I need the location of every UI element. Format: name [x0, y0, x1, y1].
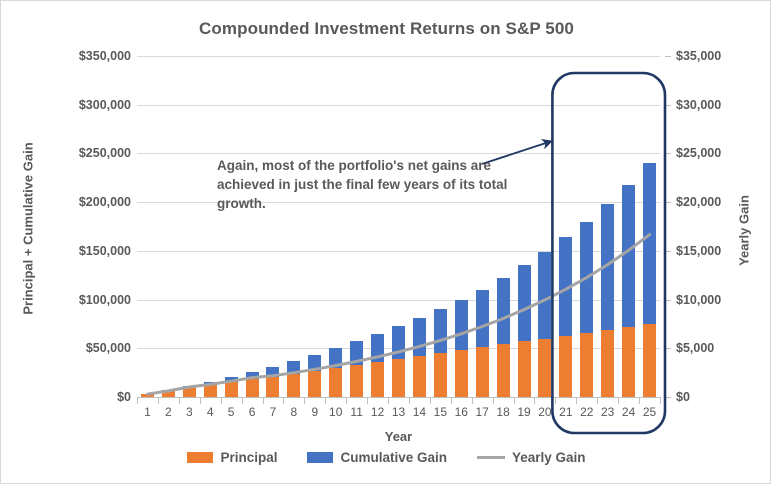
bar-segment-principal[interactable]	[476, 347, 489, 397]
bar-segment-cumulative-gain[interactable]	[371, 334, 384, 362]
bar-segment-principal[interactable]	[246, 379, 259, 397]
y-axis-right-tick-label: $20,000	[676, 195, 721, 209]
x-axis-tick	[451, 397, 452, 404]
bar-segment-principal[interactable]	[308, 371, 321, 397]
bar-segment-principal[interactable]	[580, 333, 593, 397]
bar-column[interactable]	[434, 309, 447, 397]
y-axis-right-tick-label: $5,000	[676, 341, 714, 355]
bar-segment-cumulative-gain[interactable]	[266, 367, 279, 377]
y-axis-left-tick-label: $200,000	[11, 195, 131, 209]
x-axis-tick	[430, 397, 431, 404]
bar-segment-principal[interactable]	[183, 388, 196, 397]
y-axis-right-tick	[665, 56, 671, 57]
x-axis-tick-label: 4	[207, 405, 214, 419]
bar-segment-cumulative-gain[interactable]	[392, 326, 405, 359]
y-axis-right-tick	[665, 251, 671, 252]
y-axis-left-tick-label: $300,000	[11, 98, 131, 112]
bar-segment-cumulative-gain[interactable]	[643, 163, 656, 324]
y-axis-right-tick	[665, 105, 671, 106]
x-axis-tick	[346, 397, 347, 404]
x-axis-tick-label: 15	[434, 405, 447, 419]
chart-title: Compounded Investment Returns on S&P 500	[1, 19, 771, 39]
x-axis-tick	[618, 397, 619, 404]
bar-segment-principal[interactable]	[455, 350, 468, 397]
bar-segment-cumulative-gain[interactable]	[308, 355, 321, 371]
x-axis-tick	[472, 397, 473, 404]
bar-column[interactable]	[204, 382, 217, 397]
x-axis-tick-label: 20	[538, 405, 551, 419]
y-axis-right-tick	[665, 397, 671, 398]
bar-segment-cumulative-gain[interactable]	[497, 278, 510, 344]
bar-segment-cumulative-gain[interactable]	[350, 341, 363, 364]
x-axis-tick	[555, 397, 556, 404]
x-axis-tick	[576, 397, 577, 404]
bar-column[interactable]	[350, 341, 363, 397]
x-axis-tick	[639, 397, 640, 404]
bar-column[interactable]	[266, 367, 279, 397]
y-axis-right-tick-label: $30,000	[676, 98, 721, 112]
x-axis-tick-label: 14	[413, 405, 426, 419]
x-axis-tick-label: 23	[601, 405, 614, 419]
x-axis-tick-label: 3	[186, 405, 193, 419]
bar-segment-cumulative-gain[interactable]	[622, 185, 635, 327]
x-axis-tick-label: 12	[371, 405, 384, 419]
bar-segment-principal[interactable]	[266, 377, 279, 397]
x-axis-tick-label: 10	[329, 405, 342, 419]
x-axis-tick-label: 18	[496, 405, 509, 419]
bar-segment-principal[interactable]	[434, 353, 447, 397]
x-axis-tick	[409, 397, 410, 404]
bar-segment-cumulative-gain[interactable]	[413, 318, 426, 356]
y-axis-right-tick	[665, 300, 671, 301]
gridline	[137, 56, 660, 57]
bar-segment-cumulative-gain[interactable]	[518, 265, 531, 341]
x-axis-tick-label: 6	[249, 405, 256, 419]
bar-segment-principal[interactable]	[601, 330, 614, 397]
y-axis-right-tick-label: $10,000	[676, 293, 721, 307]
bar-column[interactable]	[476, 290, 489, 397]
bar-segment-principal[interactable]	[538, 339, 551, 397]
bar-column[interactable]	[308, 355, 321, 397]
x-axis-tick	[283, 397, 284, 404]
x-axis-tick-label: 11	[350, 405, 362, 419]
chart-container: Compounded Investment Returns on S&P 500…	[0, 0, 771, 484]
bar-column[interactable]	[538, 252, 551, 397]
x-axis-tick	[325, 397, 326, 404]
bar-segment-principal[interactable]	[622, 327, 635, 397]
bar-segment-cumulative-gain[interactable]	[559, 237, 572, 335]
bar-segment-principal[interactable]	[225, 382, 238, 397]
legend-line-swatch	[477, 456, 505, 459]
legend-item[interactable]: Principal	[187, 450, 277, 465]
x-axis-tick	[388, 397, 389, 404]
bar-segment-cumulative-gain[interactable]	[476, 290, 489, 347]
y-axis-left-tick-label: $150,000	[11, 244, 131, 258]
bar-column[interactable]	[455, 300, 468, 397]
x-axis-tick	[263, 397, 264, 404]
bar-segment-cumulative-gain[interactable]	[329, 348, 342, 367]
x-axis-tick	[242, 397, 243, 404]
x-axis-tick	[221, 397, 222, 404]
bar-column[interactable]	[287, 361, 300, 397]
bar-segment-cumulative-gain[interactable]	[434, 309, 447, 353]
bar-column[interactable]	[559, 237, 572, 397]
bar-column[interactable]	[497, 278, 510, 397]
legend-label: Principal	[220, 450, 277, 465]
y-axis-right-tick-label: $0	[676, 390, 690, 404]
x-axis-tick	[158, 397, 159, 404]
bar-column[interactable]	[518, 265, 531, 397]
bar-column[interactable]	[601, 204, 614, 397]
x-axis-ticks	[137, 397, 660, 405]
bar-segment-principal[interactable]	[371, 362, 384, 397]
x-axis-tick	[304, 397, 305, 404]
bar-column[interactable]	[392, 326, 405, 397]
legend-item[interactable]: Cumulative Gain	[307, 450, 447, 465]
bar-column[interactable]	[246, 372, 259, 397]
y-axis-left-tick-label: $350,000	[11, 49, 131, 63]
x-axis-tick	[137, 397, 138, 404]
bar-segment-cumulative-gain[interactable]	[455, 300, 468, 351]
x-axis-tick-label: 21	[559, 405, 572, 419]
y-axis-right-tick	[665, 348, 671, 349]
bar-segment-principal[interactable]	[497, 344, 510, 397]
bar-segment-cumulative-gain[interactable]	[601, 204, 614, 330]
x-axis-tick	[493, 397, 494, 404]
y-axis-right-tick-label: $15,000	[676, 244, 721, 258]
y-axis-right-tick	[665, 202, 671, 203]
chart-annotation-text: Again, most of the portfolio's net gains…	[217, 156, 537, 213]
y-axis-right-tick-label: $35,000	[676, 49, 721, 63]
x-axis-tick-label: 16	[455, 405, 468, 419]
x-axis-tick-label: 17	[475, 405, 488, 419]
bar-segment-principal[interactable]	[350, 365, 363, 397]
x-axis-tick-label: 25	[643, 405, 656, 419]
x-axis-tick-label: 2	[165, 405, 172, 419]
plot-area	[137, 56, 660, 397]
bar-column[interactable]	[162, 390, 175, 397]
bar-segment-cumulative-gain[interactable]	[580, 222, 593, 333]
bar-column[interactable]	[622, 185, 635, 397]
x-axis-tick	[660, 397, 661, 404]
x-axis-tick	[514, 397, 515, 404]
x-axis-tick	[200, 397, 201, 404]
bar-segment-principal[interactable]	[392, 359, 405, 397]
legend-color-swatch	[187, 452, 213, 463]
y-axis-right-tick-label: $25,000	[676, 146, 721, 160]
x-axis-title: Year	[137, 429, 660, 444]
bar-segment-cumulative-gain[interactable]	[246, 372, 259, 379]
bar-column[interactable]	[580, 222, 593, 397]
x-axis-tick-label: 19	[517, 405, 530, 419]
x-axis-tick-label: 8	[291, 405, 298, 419]
legend-item[interactable]: Yearly Gain	[477, 450, 586, 465]
x-axis-tick	[597, 397, 598, 404]
y-axis-left-tick-label: $0	[11, 390, 131, 404]
legend-color-swatch	[307, 452, 333, 463]
gridline	[137, 105, 660, 106]
bar-column[interactable]	[371, 334, 384, 397]
x-axis-tick-label: 13	[392, 405, 405, 419]
x-axis-tick	[367, 397, 368, 404]
bar-column[interactable]	[643, 163, 656, 397]
x-axis-tick	[534, 397, 535, 404]
y-axis-left-labels: $0$50,000$100,000$150,000$200,000$250,00…	[9, 56, 131, 397]
y-axis-left-tick-label: $100,000	[11, 293, 131, 307]
bar-segment-cumulative-gain[interactable]	[538, 252, 551, 339]
gridline	[137, 153, 660, 154]
bar-column[interactable]	[183, 386, 196, 397]
x-axis-tick-label: 24	[622, 405, 635, 419]
x-axis-tick-label: 22	[580, 405, 593, 419]
chart-legend: PrincipalCumulative GainYearly Gain	[1, 450, 771, 465]
bar-segment-principal[interactable]	[559, 336, 572, 397]
y-axis-right-labels: $0$5,000$10,000$15,000$20,000$25,000$30,…	[665, 56, 745, 397]
bar-segment-principal[interactable]	[518, 341, 531, 397]
legend-label: Yearly Gain	[512, 450, 586, 465]
x-axis-tick-label: 1	[144, 405, 151, 419]
bar-segment-principal[interactable]	[204, 385, 217, 397]
bar-segment-principal[interactable]	[329, 368, 342, 397]
x-axis-tick-label: 5	[228, 405, 235, 419]
bar-column[interactable]	[413, 318, 426, 397]
bar-segment-cumulative-gain[interactable]	[287, 361, 300, 374]
bar-column[interactable]	[329, 348, 342, 397]
x-axis-tick-label: 9	[311, 405, 318, 419]
y-axis-left-tick-label: $50,000	[11, 341, 131, 355]
legend-label: Cumulative Gain	[340, 450, 447, 465]
y-axis-left-tick-label: $250,000	[11, 146, 131, 160]
x-axis-tick	[179, 397, 180, 404]
bar-column[interactable]	[225, 377, 238, 397]
x-axis-tick-label: 7	[270, 405, 277, 419]
bar-segment-principal[interactable]	[413, 356, 426, 397]
y-axis-right-tick	[665, 153, 671, 154]
x-axis-labels: 1234567891011121314151617181920212223242…	[137, 405, 660, 425]
bar-segment-principal[interactable]	[287, 374, 300, 397]
bar-segment-principal[interactable]	[643, 324, 656, 397]
